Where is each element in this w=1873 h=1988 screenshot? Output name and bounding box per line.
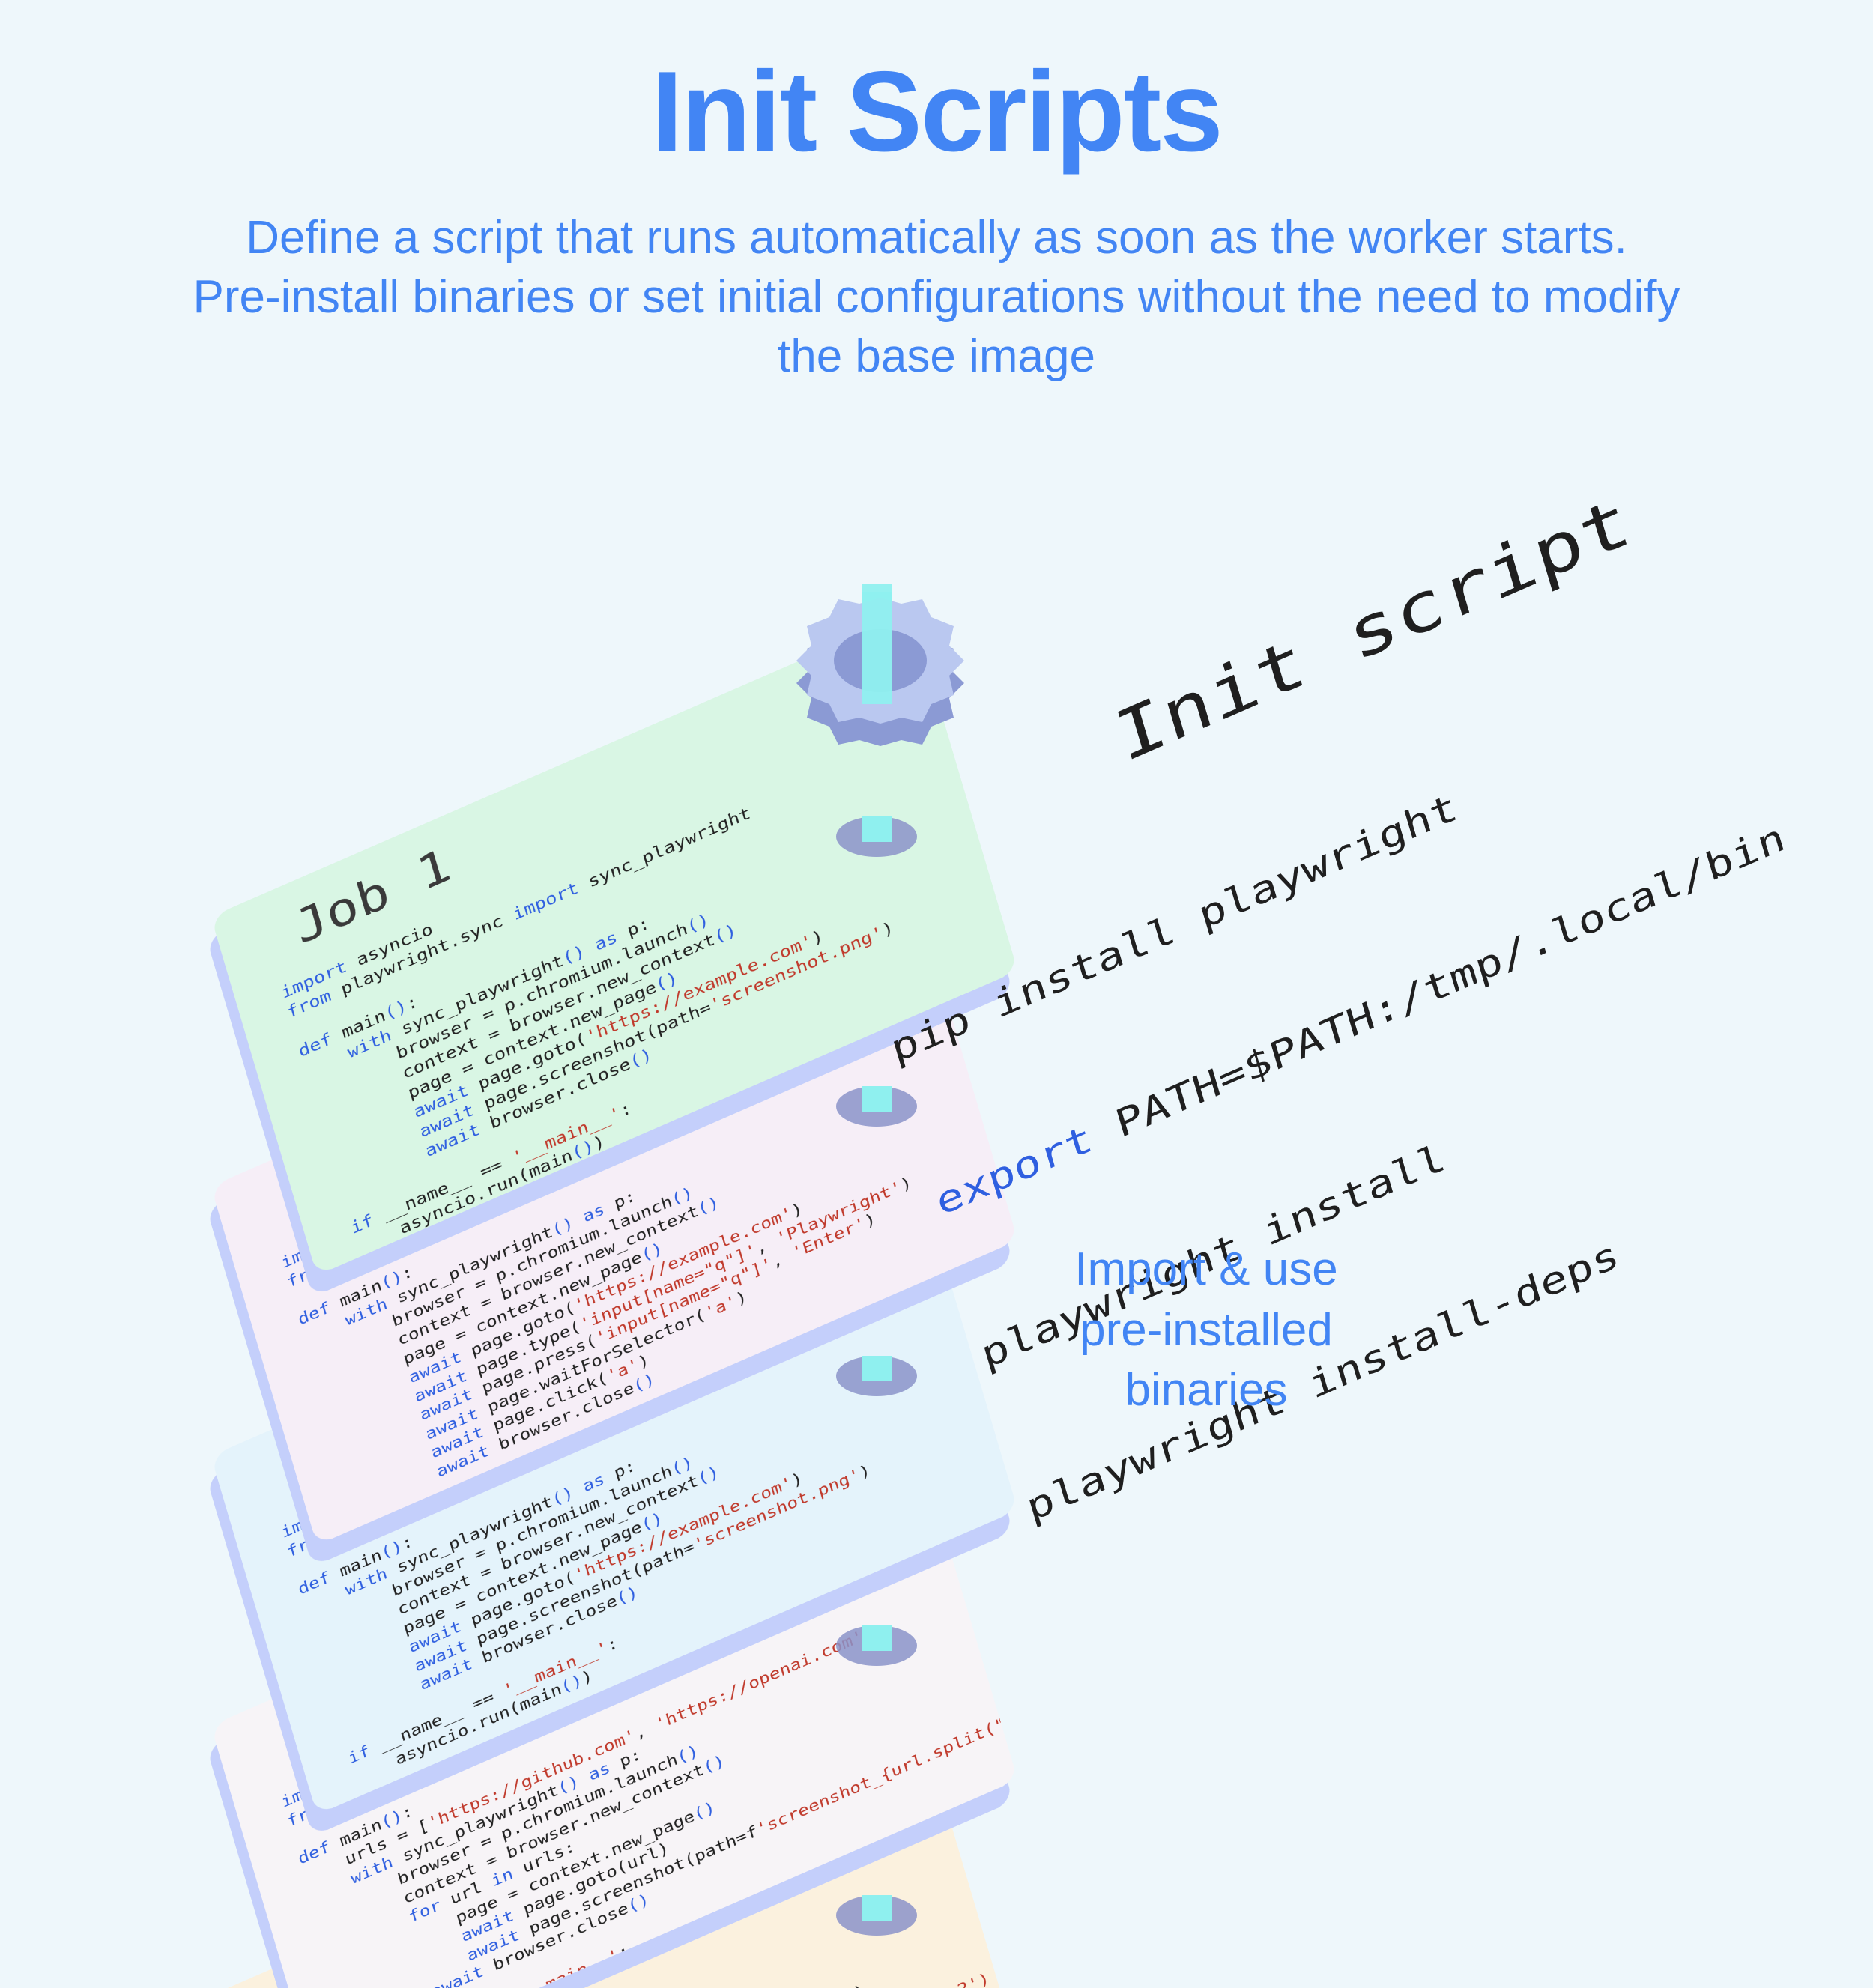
annotation-line-3: binaries	[1045, 1360, 1367, 1421]
export-path-value: PATH=$PATH:/tmp/.local/bin	[1085, 814, 1790, 1157]
infographic-page: Init Scripts Define a script that runs a…	[0, 0, 1873, 1988]
pipe-through-3	[862, 1356, 892, 1381]
annotation-line-1: Import & use	[1045, 1240, 1367, 1300]
annotation-import-binaries: Import & use pre-installed binaries	[1045, 1240, 1367, 1421]
pipe-through-4	[862, 1625, 892, 1651]
pipe-through-gear	[862, 584, 892, 704]
init-script-card[interactable]: Init script pip install playwright expor…	[698, 323, 1873, 1310]
pipe-through-5	[862, 1895, 892, 1921]
annotation-line-2: pre-installed	[1045, 1300, 1367, 1361]
export-keyword: export	[931, 1115, 1098, 1225]
isometric-scene: Job 5 import asyncio from playwright.syn…	[0, 0, 1873, 1988]
